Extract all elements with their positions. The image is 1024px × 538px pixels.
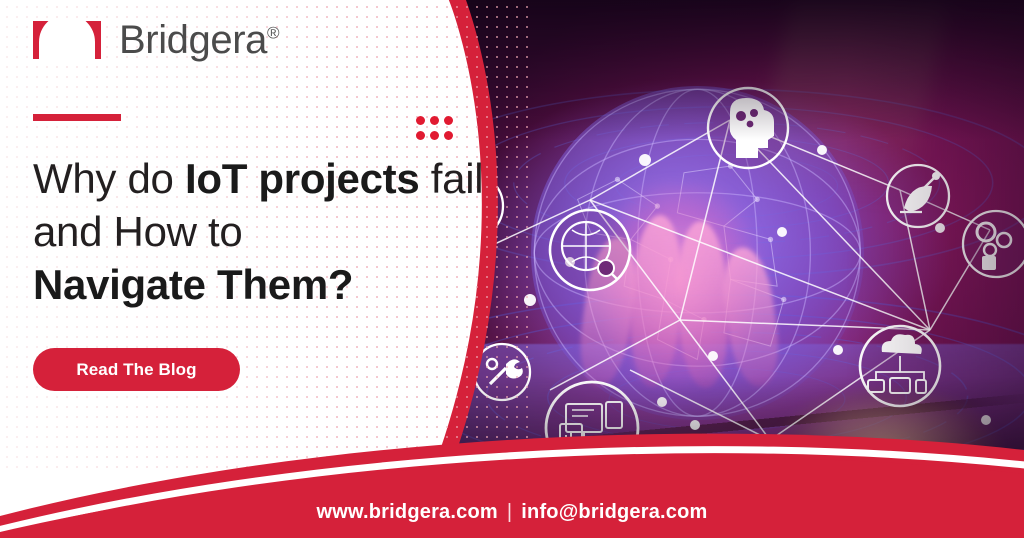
- footer-bar: www.bridgera.com|info@bridgera.com: [0, 428, 1024, 538]
- red-dot: [430, 131, 439, 140]
- red-dot: [444, 116, 453, 125]
- registered-mark: ®: [267, 24, 279, 43]
- brand-name: Bridgera: [119, 18, 267, 62]
- bridgera-arch-logo-icon: [33, 21, 101, 59]
- headline-emphasis-navigate: Navigate Them?: [33, 261, 353, 308]
- red-dot: [430, 116, 439, 125]
- headline-line-1: Why do IoT projects fail: [33, 152, 503, 205]
- headline-text-a: Why do: [33, 155, 185, 202]
- headline-emphasis-iot: IoT projects: [185, 155, 419, 202]
- read-the-blog-button[interactable]: Read The Blog: [33, 348, 240, 391]
- footer-website[interactable]: www.bridgera.com: [316, 501, 497, 523]
- red-accent-rule: [33, 114, 121, 121]
- red-dot: [416, 131, 425, 140]
- red-dot: [416, 116, 425, 125]
- headline-line-2: and How to: [33, 205, 503, 258]
- red-dot-cluster: [416, 116, 458, 146]
- bridgera-iot-banner: Bridgera® Why do IoT projects fail and H…: [0, 0, 1024, 538]
- headline-line-3: Navigate Them?: [33, 258, 503, 311]
- page-title: Why do IoT projects fail and How to Navi…: [33, 152, 503, 311]
- footer-separator: |: [507, 501, 512, 523]
- brand-logo[interactable]: Bridgera®: [33, 20, 279, 60]
- brand-wordmark: Bridgera®: [119, 20, 279, 60]
- headline-text-c: fail: [419, 155, 483, 202]
- red-dot: [444, 131, 453, 140]
- footer-email[interactable]: info@bridgera.com: [521, 501, 707, 523]
- footer-contact: www.bridgera.com|info@bridgera.com: [0, 501, 1024, 524]
